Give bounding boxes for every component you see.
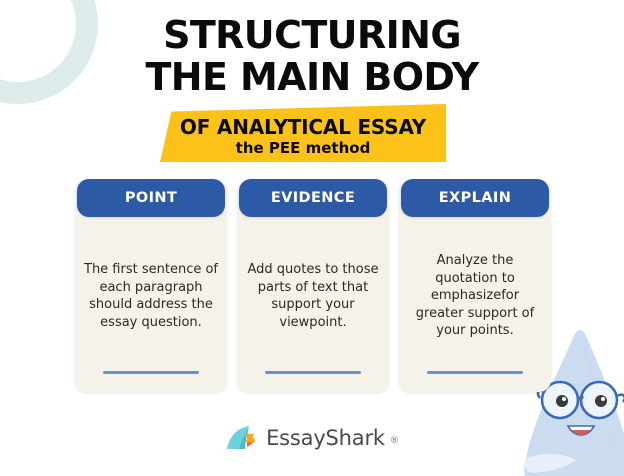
subtitle-highlight-band: OF ANALYTICAL ESSAY the PEE method xyxy=(160,104,446,162)
card-explain-body: Analyze the quotation to emphasizefor gr… xyxy=(399,217,551,371)
card-point-label: POINT xyxy=(125,190,177,206)
card-evidence-rule xyxy=(265,371,361,374)
card-point-body: The first sentence of each paragraph sho… xyxy=(75,217,227,371)
shark-fin-logo-icon xyxy=(225,425,259,451)
card-evidence-body: Add quotes to those parts of text that s… xyxy=(237,217,389,371)
highlight-band-content: OF ANALYTICAL ESSAY the PEE method xyxy=(160,104,446,162)
registered-trademark-icon: ® xyxy=(390,436,399,446)
card-explain: EXPLAIN Analyze the quotation to emphasi… xyxy=(399,180,551,392)
card-explain-header: EXPLAIN xyxy=(401,179,549,217)
card-point-text: The first sentence of each paragraph sho… xyxy=(84,261,218,331)
card-evidence: EVIDENCE Add quotes to those parts of te… xyxy=(237,180,389,392)
card-evidence-text: Add quotes to those parts of text that s… xyxy=(246,261,380,331)
brand-logo: EssayShark ® xyxy=(0,425,624,451)
title-line-2: THE MAIN BODY xyxy=(0,56,624,98)
title-line-1: STRUCTURING xyxy=(0,14,624,56)
subtitle-primary: OF ANALYTICAL ESSAY xyxy=(180,116,426,138)
card-explain-rule xyxy=(427,371,523,374)
card-evidence-label: EVIDENCE xyxy=(271,190,355,206)
page-title: STRUCTURING THE MAIN BODY xyxy=(0,14,624,98)
card-point-header: POINT xyxy=(77,179,225,217)
card-explain-text: Analyze the quotation to emphasizefor gr… xyxy=(408,252,542,340)
card-point: POINT The first sentence of each paragra… xyxy=(75,180,227,392)
brand-logo-text: EssayShark xyxy=(266,426,385,450)
pee-method-cards: POINT The first sentence of each paragra… xyxy=(75,180,552,392)
card-evidence-header: EVIDENCE xyxy=(239,179,387,217)
card-explain-label: EXPLAIN xyxy=(439,190,512,206)
card-point-rule xyxy=(103,371,199,374)
infographic-canvas: STRUCTURING THE MAIN BODY OF ANALYTICAL … xyxy=(0,0,624,468)
subtitle-secondary: the PEE method xyxy=(236,140,371,157)
